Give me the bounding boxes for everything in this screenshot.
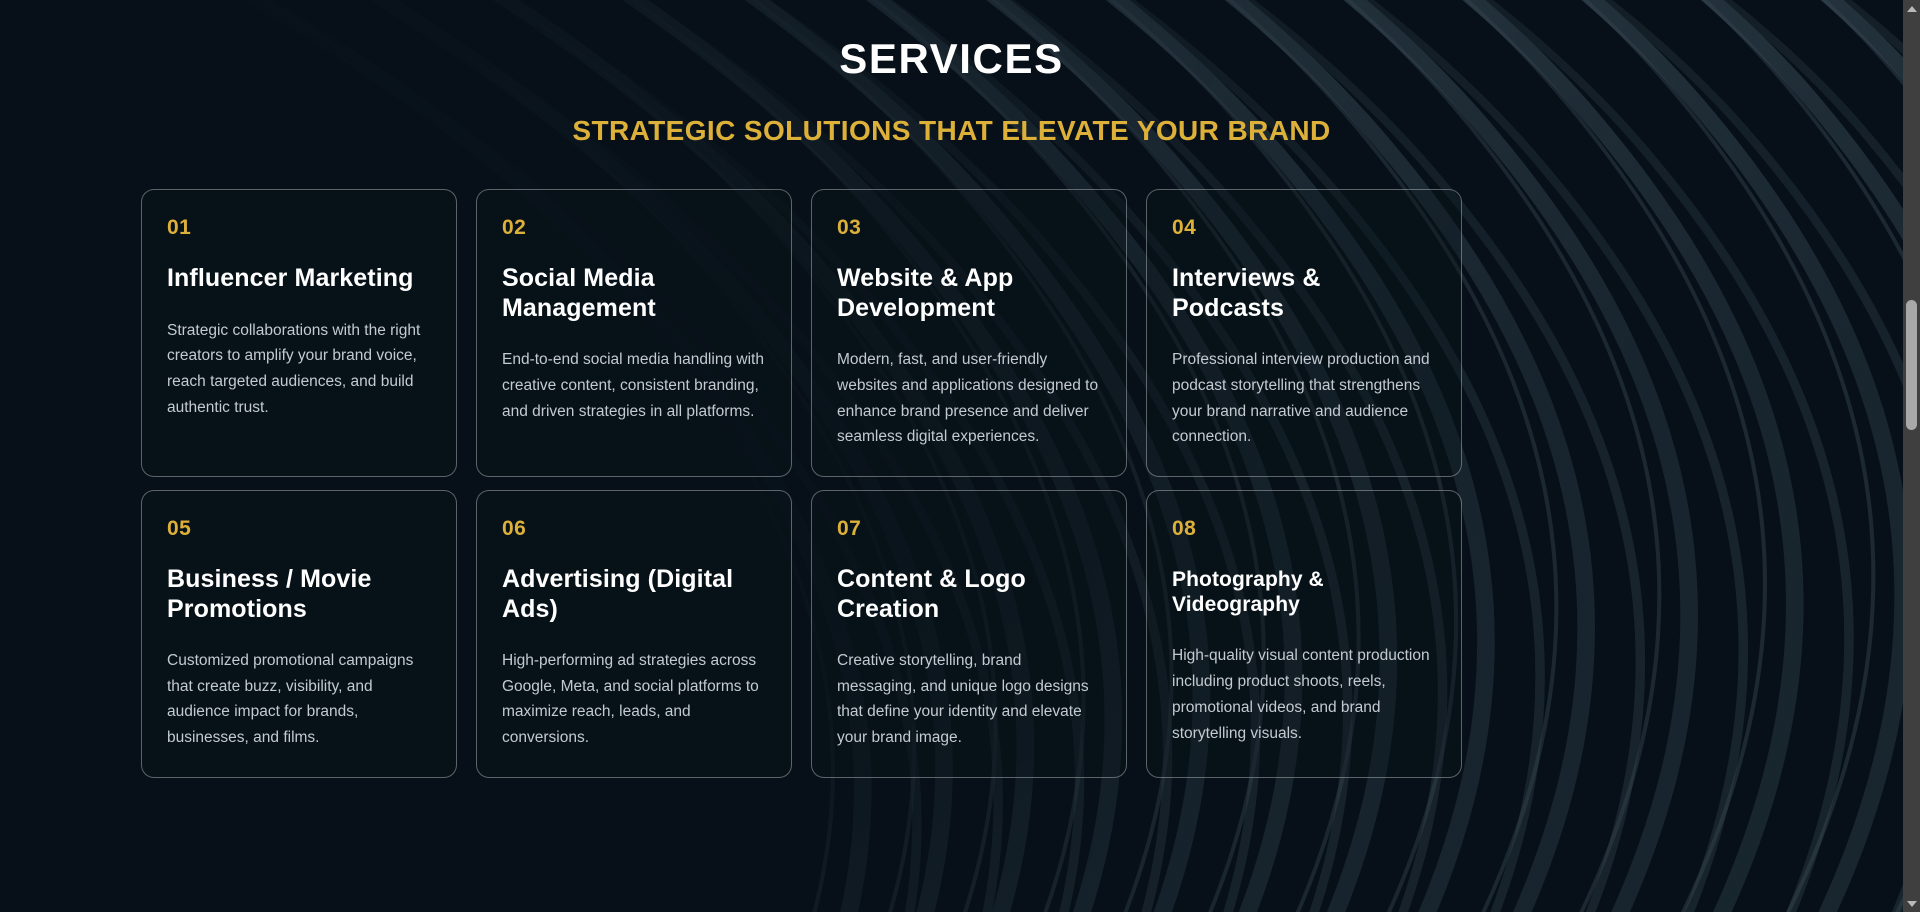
- scroll-down-arrow-icon[interactable]: [1903, 895, 1920, 912]
- services-content: SERVICES STRATEGIC SOLUTIONS THAT ELEVAT…: [0, 0, 1903, 778]
- service-card-title: Social Media Management: [502, 264, 766, 323]
- service-card[interactable]: 07 Content & Logo Creation Creative stor…: [811, 490, 1127, 778]
- vertical-scrollbar[interactable]: [1903, 0, 1920, 912]
- service-card-description: Modern, fast, and user-friendly websites…: [837, 347, 1101, 450]
- service-card-title: Content & Logo Creation: [837, 565, 1101, 624]
- service-card[interactable]: 02 Social Media Management End-to-end so…: [476, 189, 792, 477]
- service-card[interactable]: 04 Interviews & Podcasts Professional in…: [1146, 189, 1462, 477]
- service-card-number: 07: [837, 518, 1101, 539]
- service-card-title: Advertising (Digital Ads): [502, 565, 766, 624]
- service-card-description: High-performing ad strategies across Goo…: [502, 648, 766, 751]
- service-card-number: 01: [167, 217, 431, 238]
- service-card[interactable]: 03 Website & App Development Modern, fas…: [811, 189, 1127, 477]
- service-card-title: Interviews & Podcasts: [1172, 264, 1436, 323]
- service-card-title: Business / Movie Promotions: [167, 565, 431, 624]
- services-card-grid: 01 Influencer Marketing Strategic collab…: [0, 189, 1903, 778]
- service-card-number: 04: [1172, 217, 1436, 238]
- page-subtitle: STRATEGIC SOLUTIONS THAT ELEVATE YOUR BR…: [0, 114, 1903, 148]
- service-card[interactable]: 08 Photography & Videography High-qualit…: [1146, 490, 1462, 778]
- service-card-description: Professional interview production and po…: [1172, 347, 1436, 450]
- page-title: SERVICES: [0, 34, 1903, 84]
- scroll-up-arrow-icon[interactable]: [1903, 0, 1920, 17]
- service-card[interactable]: 05 Business / Movie Promotions Customize…: [141, 490, 457, 778]
- service-card-title: Influencer Marketing: [167, 264, 431, 294]
- service-card-description: Creative storytelling, brand messaging, …: [837, 648, 1101, 751]
- services-page: SERVICES STRATEGIC SOLUTIONS THAT ELEVAT…: [0, 0, 1903, 912]
- service-card-description: Customized promotional campaigns that cr…: [167, 648, 431, 751]
- service-card-description: High-quality visual content production i…: [1172, 643, 1436, 746]
- service-card[interactable]: 01 Influencer Marketing Strategic collab…: [141, 189, 457, 477]
- service-card-number: 08: [1172, 518, 1436, 539]
- service-card-number: 05: [167, 518, 431, 539]
- service-card-number: 03: [837, 217, 1101, 238]
- service-card-description: End-to-end social media handling with cr…: [502, 347, 766, 424]
- service-card-title: Website & App Development: [837, 264, 1101, 323]
- service-card-number: 02: [502, 217, 766, 238]
- service-card-number: 06: [502, 518, 766, 539]
- service-card[interactable]: 06 Advertising (Digital Ads) High-perfor…: [476, 490, 792, 778]
- scrollbar-thumb[interactable]: [1906, 300, 1917, 430]
- service-card-description: Strategic collaborations with the right …: [167, 318, 431, 421]
- service-card-title: Photography & Videography: [1172, 567, 1436, 617]
